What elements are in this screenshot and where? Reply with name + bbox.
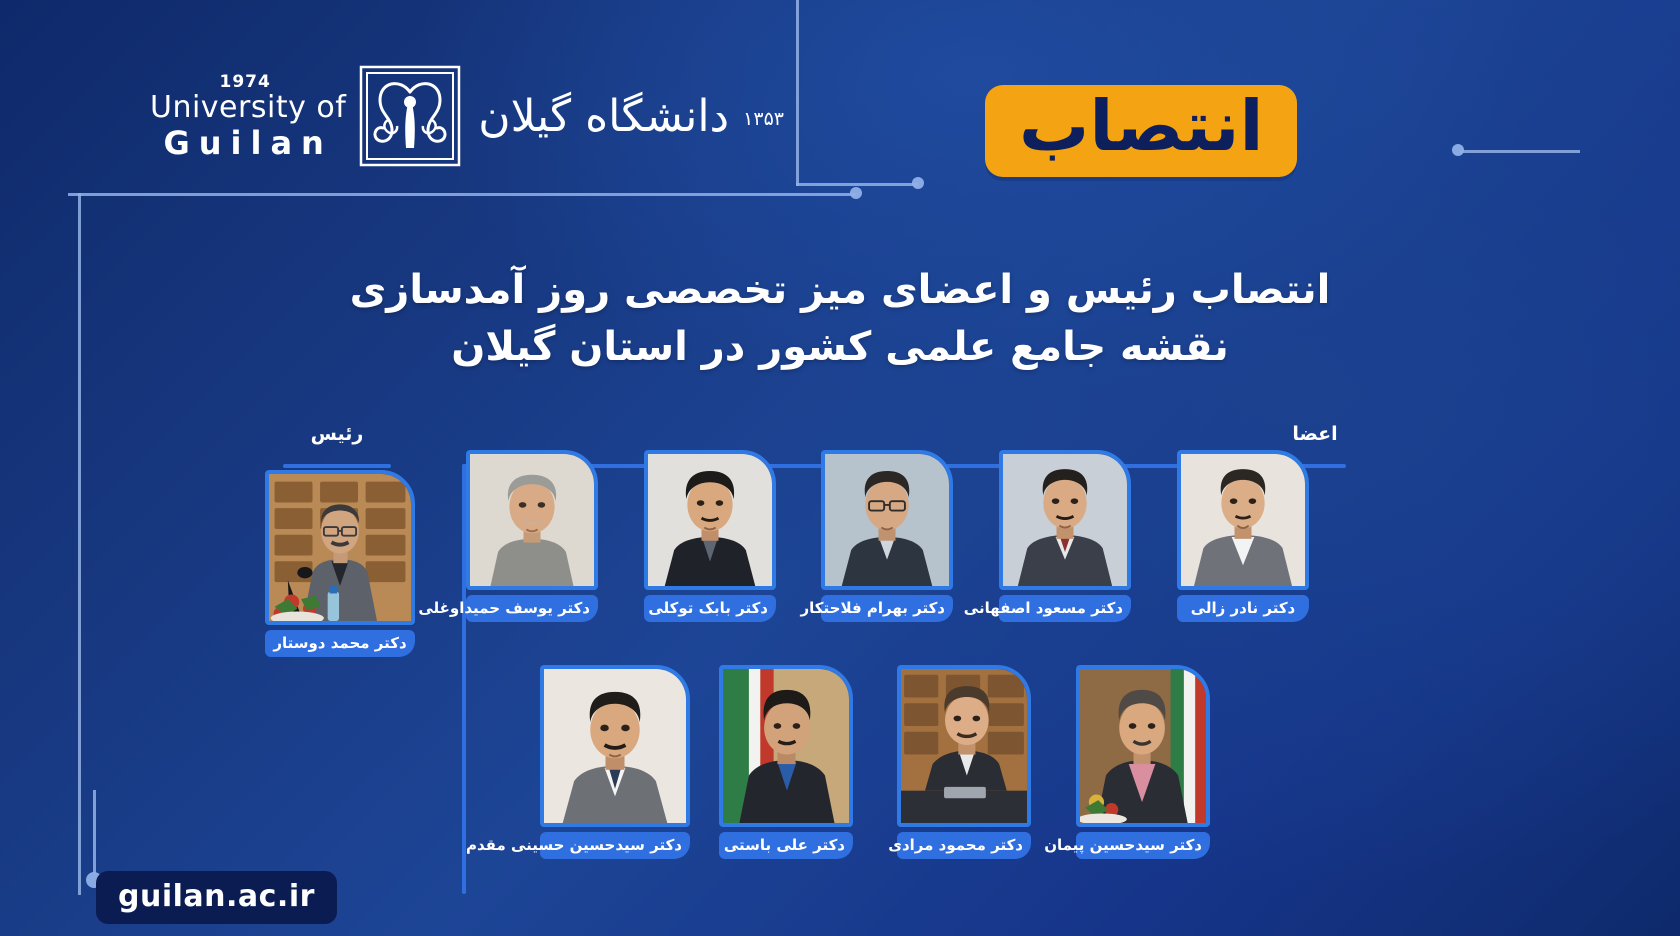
person-photo-frame <box>1177 450 1309 590</box>
person-name-label: دکتر علی باستی <box>719 832 853 859</box>
person-card-member-8[interactable]: دکتر محمود مرادی <box>897 665 1031 859</box>
section-label-members: اعضا <box>1230 423 1400 445</box>
logo-founding-year-fa: ۱۳۵۳ <box>743 108 784 130</box>
poster-canvas: 1974 University of Guilan ۱۳۵۳ دانشگاه گ… <box>0 0 1680 936</box>
logo-name-fa: دانشگاه گیلان <box>478 91 729 142</box>
page-title-line-1: انتصاب رئیس و اعضای میز تخصصی روز آمدساز… <box>0 262 1680 319</box>
person-card-member-5[interactable]: دکتر نادر زالی <box>1177 450 1309 622</box>
page-title: انتصاب رئیس و اعضای میز تخصصی روز آمدساز… <box>0 262 1680 376</box>
person-photo-frame <box>1076 665 1210 827</box>
person-photo-frame <box>999 450 1131 590</box>
decorative-line-horizontal-long <box>68 193 856 196</box>
person-name-label: دکتر محمد دوستار <box>265 630 415 657</box>
bracket-chair <box>283 464 391 468</box>
member-6-portrait-image <box>544 669 686 823</box>
member-5-portrait-image <box>1181 454 1305 586</box>
person-name-label: دکتر محمود مرادی <box>897 832 1031 859</box>
appointment-banner: انتصاب <box>985 85 1297 177</box>
member-7-portrait-image <box>723 669 849 823</box>
person-photo-frame <box>540 665 690 827</box>
person-card-member-2[interactable]: دکتر بابک توکلی <box>644 450 776 622</box>
member-3-portrait-image <box>825 454 949 586</box>
logo-english-text: 1974 University of Guilan <box>150 74 346 159</box>
person-photo-frame <box>644 450 776 590</box>
person-photo-frame <box>466 450 598 590</box>
person-card-member-4[interactable]: دکتر مسعود اصفهانی <box>999 450 1131 622</box>
person-photo-frame <box>897 665 1031 827</box>
person-card-chair[interactable]: دکتر محمد دوستار <box>265 470 415 657</box>
section-label-chair: رئیس <box>252 423 422 445</box>
person-card-member-9[interactable]: دکتر سیدحسین پیمان <box>1076 665 1210 859</box>
person-photo-frame <box>265 470 415 625</box>
decorative-line-horizontal-right <box>1460 150 1580 153</box>
person-name-label: دکتر یوسف حمیداوغلی <box>466 595 598 622</box>
person-card-member-7[interactable]: دکتر علی باستی <box>719 665 853 859</box>
person-name-label: دکتر نادر زالی <box>1177 595 1309 622</box>
logo-line-university-of: University of <box>150 93 346 123</box>
logo-founding-year-en: 1974 <box>150 74 346 91</box>
chair-portrait-image <box>269 474 411 621</box>
logo-persian-text: ۱۳۵۳ دانشگاه گیلان <box>478 91 784 142</box>
person-name-label: دکتر بهرام فلاحتکار <box>821 595 953 622</box>
decorative-dot-icon-3 <box>1452 144 1464 156</box>
logo-line-guilan: Guilan <box>150 127 346 159</box>
page-title-line-2: نقشه جامع علمی کشور در استان گیلان <box>0 319 1680 376</box>
person-name-label: دکتر مسعود اصفهانی <box>999 595 1131 622</box>
university-logo: 1974 University of Guilan ۱۳۵۳ دانشگاه گ… <box>150 62 784 170</box>
decorative-line-vertical-top <box>796 0 799 186</box>
person-photo-frame <box>719 665 853 827</box>
decorative-dot-icon-1 <box>912 177 924 189</box>
member-4-portrait-image <box>1003 454 1127 586</box>
member-2-portrait-image <box>648 454 772 586</box>
decorative-line-horizontal-short <box>796 183 918 186</box>
person-name-label: دکتر سیدحسین پیمان <box>1076 832 1210 859</box>
person-name-label: دکتر سیدحسین حسینی مقدم <box>540 832 690 859</box>
person-name-label: دکتر بابک توکلی <box>644 595 776 622</box>
person-photo-frame <box>821 450 953 590</box>
decorative-dot-icon-2 <box>850 187 862 199</box>
member-9-portrait-image <box>1080 669 1206 823</box>
person-card-member-1[interactable]: دکتر یوسف حمیداوغلی <box>466 450 598 622</box>
person-card-member-3[interactable]: دکتر بهرام فلاحتکار <box>821 450 953 622</box>
member-8-portrait-image <box>901 669 1027 823</box>
guilan-university-emblem-icon <box>356 62 464 170</box>
member-1-portrait-image <box>470 454 594 586</box>
person-card-member-6[interactable]: دکتر سیدحسین حسینی مقدم <box>540 665 690 859</box>
website-url-text: guilan.ac.ir <box>118 879 315 914</box>
appointment-banner-label: انتصاب <box>1019 91 1263 161</box>
decorative-line-footer-stem <box>93 790 96 874</box>
website-url-badge[interactable]: guilan.ac.ir <box>96 871 337 924</box>
